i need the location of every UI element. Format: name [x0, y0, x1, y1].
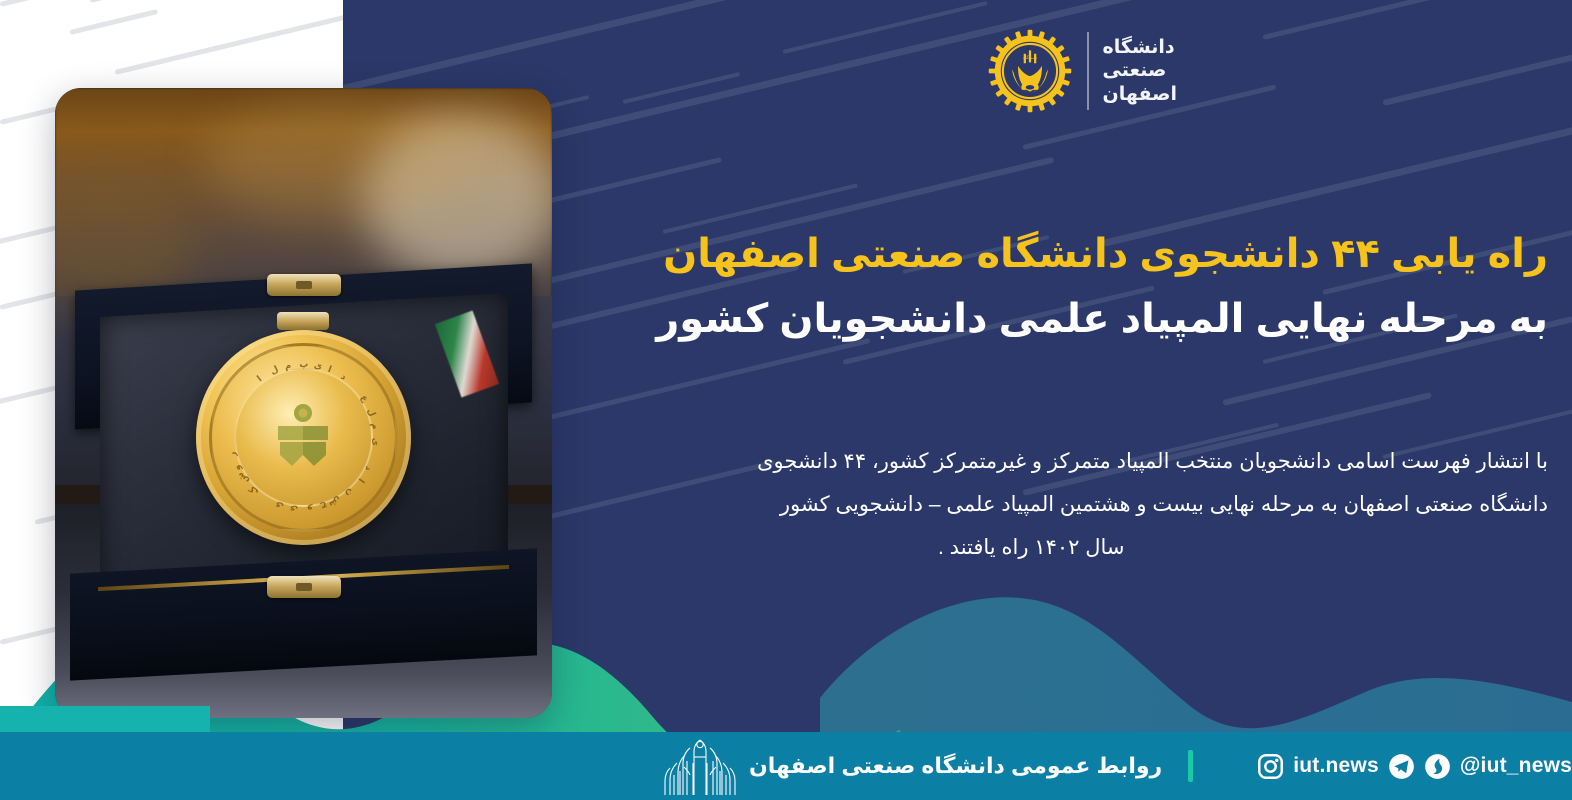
soroush-icon[interactable] [1424, 753, 1451, 780]
headline-line-2: به مرحله نهایی المپیاد علمی دانشجویان کش… [548, 287, 1548, 352]
diagonal-streak [343, 0, 555, 5]
svg-text:دانشگاه: دانشگاه [1023, 55, 1037, 61]
poster-canvas: المپیاد علمی دانشجویی کشور دانشگاه صنعت [0, 0, 1572, 800]
medal-engraved-glyph: ک [247, 483, 261, 497]
university-name-line-3: اصفهان [1103, 83, 1177, 106]
headline: راه یابی ۴۴ دانشجوی دانشگاه صنعتی اصفهان… [548, 222, 1548, 352]
medal-engraved-glyph: م [283, 360, 292, 372]
medal-engraved-glyph: ی [370, 438, 381, 446]
university-name-stack: دانشگاه صنعتی اصفهان [1103, 36, 1177, 106]
footer-divider [1188, 750, 1193, 782]
university-name-line-2: صنعتی [1103, 59, 1167, 82]
medal-engraved-glyph: ی [274, 499, 285, 512]
medal-engraved-glyph: پ [299, 359, 309, 370]
medal-engraved-glyph: م [369, 422, 381, 431]
instagram-handle[interactable]: iut.news [1293, 754, 1379, 778]
social-links-group: iut.news @iut_news [1213, 753, 1572, 780]
body-paragraph: با انتشار فهرست اسامی دانشجویان منتخب ال… [548, 440, 1548, 569]
medal-engraved-glyph: ش [235, 470, 251, 487]
diagonal-streak [1382, 30, 1572, 106]
medal-engraved-glyph: و [306, 504, 313, 516]
medal-engraved-glyph: ع [358, 393, 371, 404]
medal-emblem-icon [272, 400, 334, 470]
medal-engraved-glyph: د [339, 371, 349, 383]
medal-engraved-glyph: ر [227, 451, 239, 459]
medal-photo: المپیاد علمی دانشجویی کشور [55, 88, 552, 718]
footer-accent-strip [0, 706, 210, 732]
medal-engraved-glyph: ن [343, 486, 356, 499]
body-line-1: با انتشار فهرست اسامی دانشجویان منتخب ال… [548, 440, 1548, 483]
medal-engraved-glyph: ا [255, 374, 264, 385]
medal-engraved-glyph: ل [268, 364, 280, 377]
body-line-3: سال ۱۴۰۲ راه یافتند . [548, 526, 1548, 569]
medal-engraved-glyph: ا [326, 364, 333, 375]
iut-gate-building-icon [663, 737, 737, 795]
medal-engraved-glyph: ی [313, 360, 323, 372]
organization-label: روابط عمومی دانشگاه صنعتی اصفهان [749, 753, 1162, 779]
medal-box-clasp-bottom [267, 576, 341, 598]
medal-photo-card: المپیاد علمی دانشجویی کشور [55, 88, 552, 718]
medal-box-clasp-top [267, 274, 341, 296]
medal-engraved-glyph: د [362, 464, 374, 473]
diagonal-streak [783, 1, 988, 54]
footer-bar: iut.news @iut_news روابط عمومی دانشگاه ص… [0, 732, 1572, 800]
medal-hanger [277, 312, 329, 330]
photo-bokeh-wide [204, 101, 464, 221]
diagonal-streak [0, 0, 166, 7]
university-logo-block: دانشگاه صنعتی اصفهان دانشگاه [987, 28, 1177, 114]
diagonal-streak [1262, 0, 1572, 40]
logo-divider [1087, 32, 1089, 110]
messenger-handle[interactable]: @iut_news [1460, 754, 1572, 778]
iut-gear-emblem-icon: دانشگاه [987, 28, 1073, 114]
medal-engraved-glyph: ل [365, 407, 378, 418]
medal-engraved-glyph: ا [356, 476, 367, 485]
organization-group: روابط عمومی دانشگاه صنعتی اصفهان [663, 737, 1162, 795]
telegram-icon[interactable] [1388, 753, 1415, 780]
body-line-2: دانشگاه صنعتی اصفهان به مرحله نهایی بیست… [548, 483, 1548, 526]
headline-line-1: راه یابی ۴۴ دانشجوی دانشگاه صنعتی اصفهان [548, 222, 1548, 287]
gold-medal: المپیاد علمی دانشجویی کشور [196, 330, 411, 545]
medal-engraved-glyph: ی [289, 503, 298, 515]
diagonal-streak [623, 72, 741, 104]
medal-engraved-glyph: ش [327, 494, 343, 510]
diagonal-streak [89, 0, 345, 3]
instagram-icon[interactable] [1257, 753, 1284, 780]
university-name-line-1: دانشگاه [1103, 36, 1175, 59]
diagonal-streak [69, 9, 158, 35]
